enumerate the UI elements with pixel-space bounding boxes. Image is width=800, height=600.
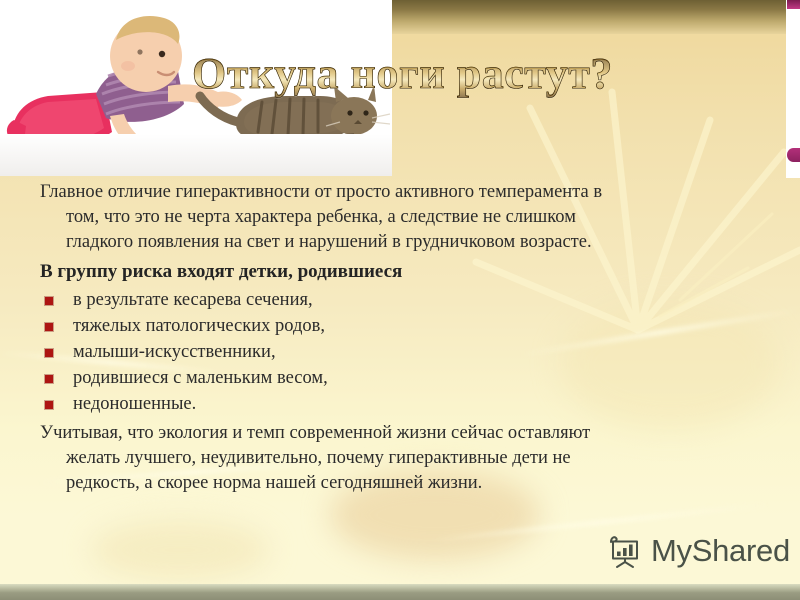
magenta-accent-mark — [787, 0, 800, 9]
intro-line-3: гладкого появления на свет и нарушений в… — [40, 230, 726, 255]
list-item-label: малыши-искусственники, — [73, 342, 276, 362]
square-bullet-icon — [45, 375, 53, 383]
closing-line-2: желать лучшего, неудивительно, почему ги… — [40, 446, 726, 471]
square-bullet-icon — [45, 401, 53, 409]
square-bullet-icon — [45, 297, 53, 305]
list-item: малыши-искусственники, — [40, 339, 726, 365]
list-item: тяжелых патологических родов, — [40, 313, 726, 339]
list-item-label: родившиеся с маленьким весом, — [73, 368, 328, 388]
intro-line-1: Главное отличие гиперактивности от прост… — [40, 182, 602, 202]
bottom-band — [0, 584, 800, 600]
list-item-label: тяжелых патологических родов, — [73, 316, 325, 336]
risk-list: в результате кесарева сечения, тяжелых п… — [40, 287, 726, 417]
presentation-slide: Откуда ноги растут? Главное отличие гипе… — [0, 0, 800, 600]
list-item: недоношенные. — [40, 391, 726, 417]
closing-line-3: редкость, а скорее норма нашей сегодняшн… — [40, 471, 726, 496]
list-item-label: в результате кесарева сечения, — [73, 290, 313, 310]
list-item: родившиеся с маленьким весом, — [40, 365, 726, 391]
slide-title: Откуда ноги растут? — [192, 48, 613, 99]
list-item: в результате кесарева сечения, — [40, 287, 726, 313]
intro-paragraph: Главное отличие гиперактивности от прост… — [40, 180, 726, 255]
presentation-chart-icon — [606, 533, 644, 569]
closing-paragraph: Учитывая, что экология и темп современно… — [40, 421, 726, 496]
logo-text: MyShared — [651, 533, 790, 569]
closing-line-1: Учитывая, что экология и темп современно… — [40, 423, 590, 443]
intro-line-2: том, что это не черта характера ребенка,… — [40, 205, 726, 230]
myshared-logo[interactable]: MyShared — [606, 533, 790, 569]
slide-body: Главное отличие гиперактивности от прост… — [40, 180, 726, 499]
square-bullet-icon — [45, 323, 53, 331]
list-item-label: недоношенные. — [73, 394, 196, 414]
risk-group-heading: В группу риска входят детки, родившиеся — [40, 259, 726, 285]
right-edge-strip — [786, 0, 800, 178]
square-bullet-icon — [45, 349, 53, 357]
photo-floor — [0, 134, 392, 176]
magenta-accent-mark — [787, 148, 800, 162]
